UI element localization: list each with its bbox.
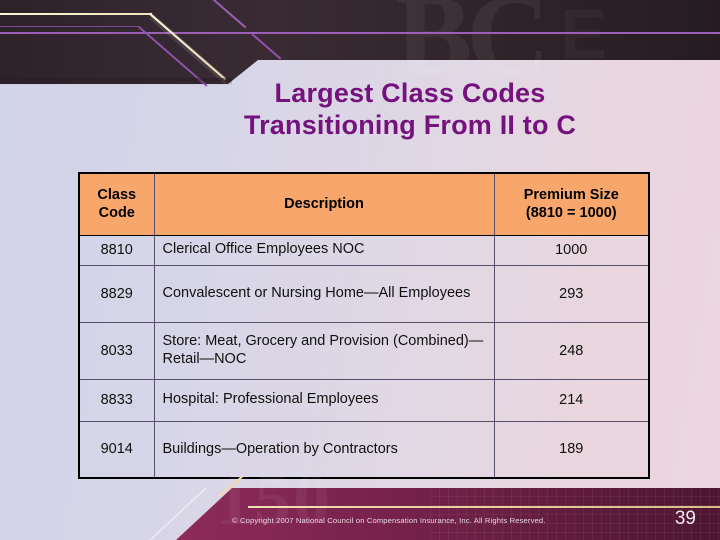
table-row: 9014 Buildings—Operation by Contractors … bbox=[79, 421, 649, 478]
table-header-row: Class Code Description Premium Size (881… bbox=[79, 173, 649, 235]
column-header-class-code: Class Code bbox=[79, 173, 154, 235]
cell-class-code: 8033 bbox=[79, 322, 154, 379]
cell-description: Store: Meat, Grocery and Provision (Comb… bbox=[154, 322, 494, 379]
footer-watermark: 150 bbox=[215, 476, 332, 540]
cell-premium-size: 189 bbox=[494, 421, 649, 478]
column-header-description-label: Description bbox=[161, 196, 488, 212]
table-row: 8833 Hospital: Professional Employees 21… bbox=[79, 379, 649, 421]
page-title: Largest Class Codes Transitioning From I… bbox=[120, 78, 700, 142]
table-row: 8829 Convalescent or Nursing Home—All Em… bbox=[79, 265, 649, 322]
table-header: Class Code Description Premium Size (881… bbox=[79, 173, 649, 235]
cell-description: Hospital: Professional Employees bbox=[154, 379, 494, 421]
class-codes-table-wrapper: Class Code Description Premium Size (881… bbox=[78, 172, 648, 479]
cell-description: Buildings—Operation by Contractors bbox=[154, 421, 494, 478]
header-purple-stripe-short bbox=[0, 26, 140, 27]
cell-class-code: 9014 bbox=[79, 421, 154, 478]
header-purple-stripe-long bbox=[0, 32, 720, 34]
column-header-class-code-line2: Code bbox=[86, 204, 148, 222]
cell-description: Clerical Office Employees NOC bbox=[154, 235, 494, 265]
column-header-class-code-line1: Class bbox=[86, 186, 148, 204]
column-header-premium-size-line2: (8810 = 1000) bbox=[501, 204, 643, 222]
header-cream-stripe bbox=[0, 13, 152, 15]
table-body: 8810 Clerical Office Employees NOC 1000 … bbox=[79, 235, 649, 478]
cell-class-code: 8833 bbox=[79, 379, 154, 421]
cell-premium-size: 248 bbox=[494, 322, 649, 379]
footer-gold-line bbox=[248, 506, 720, 508]
table-row: 8810 Clerical Office Employees NOC 1000 bbox=[79, 235, 649, 265]
class-codes-table: Class Code Description Premium Size (881… bbox=[78, 172, 650, 479]
cell-class-code: 8810 bbox=[79, 235, 154, 265]
copyright-notice: © Copyright 2007 National Council on Com… bbox=[232, 516, 546, 525]
column-header-premium-size: Premium Size (8810 = 1000) bbox=[494, 173, 649, 235]
column-header-description: Description bbox=[154, 173, 494, 235]
cell-premium-size: 293 bbox=[494, 265, 649, 322]
column-header-premium-size-line1: Premium Size bbox=[501, 186, 643, 204]
cell-class-code: 8829 bbox=[79, 265, 154, 322]
page-number: 39 bbox=[675, 508, 696, 530]
footer-banner: 150 © Copyright 2007 National Council on… bbox=[0, 476, 720, 540]
page-title-line-2: Transitioning From II to C bbox=[120, 110, 700, 142]
cell-premium-size: 214 bbox=[494, 379, 649, 421]
page-title-line-1: Largest Class Codes bbox=[120, 78, 700, 110]
table-row: 8033 Store: Meat, Grocery and Provision … bbox=[79, 322, 649, 379]
cell-description: Convalescent or Nursing Home—All Employe… bbox=[154, 265, 494, 322]
cell-premium-size: 1000 bbox=[494, 235, 649, 265]
slide: BC E Largest Class Codes Transitioning F… bbox=[0, 0, 720, 540]
